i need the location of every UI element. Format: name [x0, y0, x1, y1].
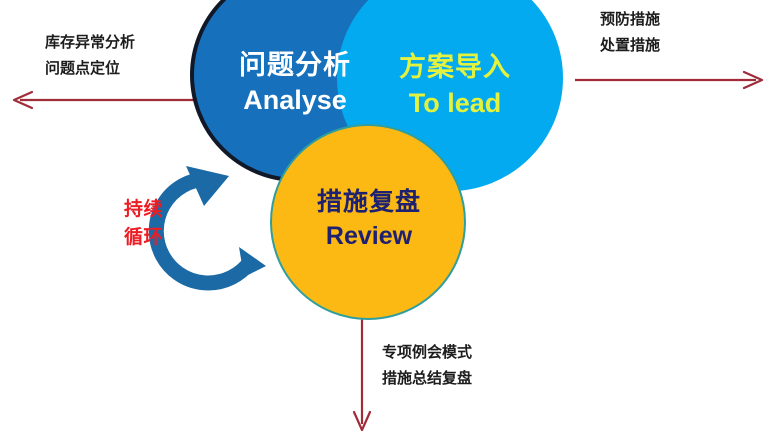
diagram-canvas: 问题分析 Analyse 方案导入 To lead 措施复盘 Review 库存…	[0, 0, 772, 441]
diagram-graphics-layer	[0, 0, 772, 441]
continuous-cycle-arrow	[156, 166, 266, 283]
measure-review-circle[interactable]	[271, 125, 465, 319]
bottom-flow-arrow	[354, 316, 370, 430]
right-flow-arrow	[575, 72, 762, 88]
left-flow-arrow	[14, 92, 212, 108]
